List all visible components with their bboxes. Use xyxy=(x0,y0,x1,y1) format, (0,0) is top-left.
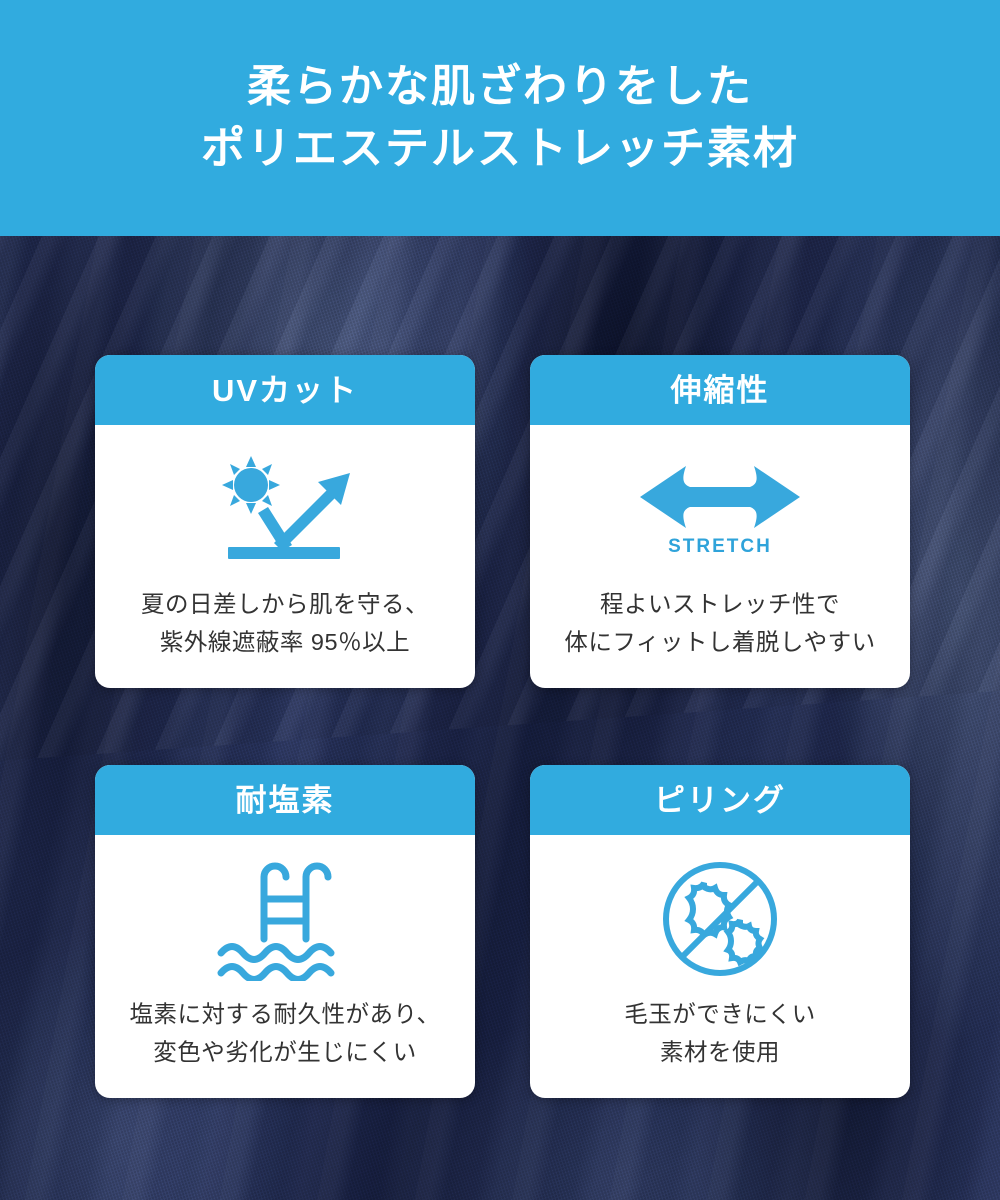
card-text-line-2: 変色や劣化が生じにくい xyxy=(129,1033,440,1071)
card-text-line-1: 毛玉ができにくい xyxy=(624,995,816,1033)
sun-reflect-icon xyxy=(210,453,360,565)
card-body-chlorine-resistant: 塩素に対する耐久性があり、 変色や劣化が生じにくい xyxy=(95,835,475,1098)
card-text-line-2: 紫外線遮蔽率 95％以上 xyxy=(141,623,429,661)
card-text-uv-cut: 夏の日差しから肌を守る、 紫外線遮蔽率 95％以上 xyxy=(141,585,429,661)
header-banner: 柔らかな肌ざわりをした ポリエステルストレッチ素材 xyxy=(0,0,1000,236)
feature-card-grid: UVカット xyxy=(95,355,910,1098)
card-header-uv-cut: UVカット xyxy=(95,355,475,425)
stretch-label: STRETCH xyxy=(668,536,772,558)
card-header-chlorine-resistant: 耐塩素 xyxy=(95,765,475,835)
feature-card-stretch[interactable]: 伸縮性 STRETCH 程よいストレッチ性で 体にフィットし着脱しやすい xyxy=(530,355,910,688)
icon-area-uv-cut xyxy=(210,443,360,575)
promo-page: 柔らかな肌ざわりをした ポリエステルストレッチ素材 UVカット xyxy=(0,0,1000,1200)
card-body-stretch: STRETCH 程よいストレッチ性で 体にフィットし着脱しやすい xyxy=(530,425,910,688)
double-arrow-icon xyxy=(632,460,808,534)
feature-card-chlorine-resistant[interactable]: 耐塩素 xyxy=(95,765,475,1098)
card-text-line-1: 程よいストレッチ性で xyxy=(564,585,875,623)
card-text-line-2: 体にフィットし着脱しやすい xyxy=(564,623,875,661)
icon-area-stretch: STRETCH xyxy=(632,443,808,575)
card-header-stretch: 伸縮性 xyxy=(530,355,910,425)
banner-title-line-1: 柔らかな肌ざわりをした xyxy=(247,56,753,118)
banner-title-line-2: ポリエステルストレッチ素材 xyxy=(201,118,799,180)
card-title-anti-pilling: ピリング xyxy=(654,785,786,816)
feature-card-anti-pilling[interactable]: ピリング xyxy=(530,765,910,1098)
card-text-line-1: 夏の日差しから肌を守る、 xyxy=(141,585,429,623)
icon-area-anti-pilling xyxy=(658,853,782,985)
card-title-stretch: 伸縮性 xyxy=(671,375,770,406)
card-body-anti-pilling: 毛玉ができにくい 素材を使用 xyxy=(530,835,910,1098)
pool-ladder-water-icon xyxy=(211,857,359,981)
card-body-uv-cut: 夏の日差しから肌を守る、 紫外線遮蔽率 95％以上 xyxy=(95,425,475,688)
card-text-anti-pilling: 毛玉ができにくい 素材を使用 xyxy=(624,995,816,1071)
card-title-chlorine-resistant: 耐塩素 xyxy=(236,785,335,816)
card-text-line-2: 素材を使用 xyxy=(624,1033,816,1071)
card-header-anti-pilling: ピリング xyxy=(530,765,910,835)
icon-area-chlorine-resistant xyxy=(211,853,359,985)
card-title-uv-cut: UVカット xyxy=(212,375,358,406)
card-text-stretch: 程よいストレッチ性で 体にフィットし着脱しやすい xyxy=(564,585,875,661)
feature-card-uv-cut[interactable]: UVカット xyxy=(95,355,475,688)
no-pilling-icon xyxy=(658,857,782,981)
card-text-chlorine-resistant: 塩素に対する耐久性があり、 変色や劣化が生じにくい xyxy=(129,995,440,1071)
card-text-line-1: 塩素に対する耐久性があり、 xyxy=(129,995,440,1033)
